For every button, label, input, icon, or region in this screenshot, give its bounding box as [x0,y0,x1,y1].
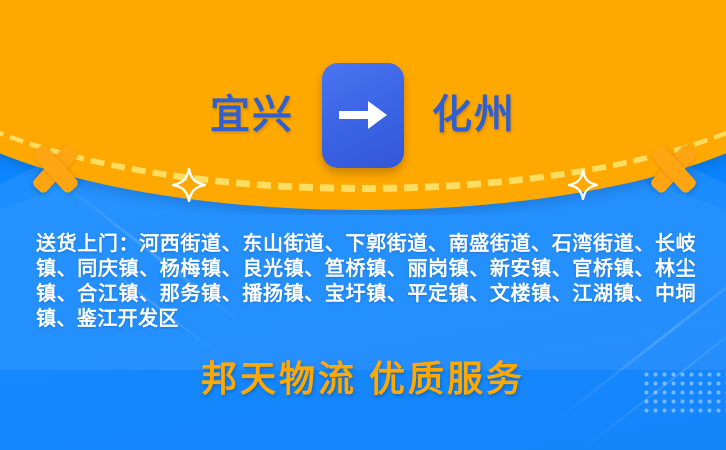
sparkle-icon-right [568,170,598,200]
logistics-banner: 宜兴 化州 送货上门：河西街道、东山街道、下郭街道、南盛街道、石湾街道、长岐镇、… [0,0,726,450]
company-slogan: 邦天物流 优质服务 [0,360,726,400]
destination-city: 化州 [432,95,552,135]
arrow-right-icon [322,63,404,168]
sparkle-icon-left [172,168,206,202]
route-header: 宜兴 化州 [0,60,726,170]
delivery-coverage-text: 送货上门：河西街道、东山街道、下郭街道、南盛街道、石湾街道、长岐镇、同庆镇、杨梅… [36,232,696,332]
origin-city: 宜兴 [174,95,294,135]
